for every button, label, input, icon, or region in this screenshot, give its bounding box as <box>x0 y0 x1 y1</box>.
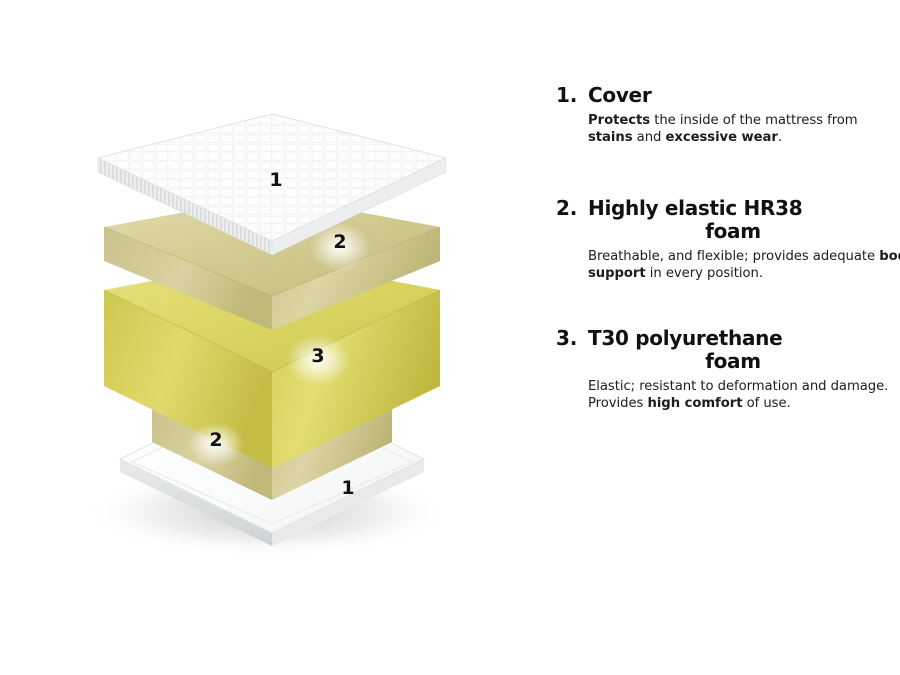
description-title: Cover <box>588 84 896 107</box>
description-title-line2: foam <box>588 220 896 243</box>
description-number: 2. <box>556 197 588 220</box>
layer-label-lower-hr38: 2 <box>209 429 222 451</box>
page-root: 1 2 3 2 1 1. Cover Protects the inside o… <box>0 0 900 675</box>
mattress-diagram-svg: 1 2 3 2 1 <box>0 0 520 675</box>
description-body: Protects the inside of the mattress from… <box>588 112 896 147</box>
description-block-cover: 1. Cover Protects the inside of the matt… <box>556 84 896 147</box>
layer-description-list: 1. Cover Protects the inside of the matt… <box>556 84 896 413</box>
description-title-line2: foam <box>588 350 896 373</box>
description-number: 1. <box>556 84 588 107</box>
layer-label-top-cover: 1 <box>269 169 282 191</box>
description-body: Breathable, and flexible; provides adequ… <box>588 248 900 283</box>
description-title: Highly elastic HR38 foam <box>588 197 896 243</box>
description-title-line1: Highly elastic HR38 <box>588 196 802 220</box>
layer-label-upper-hr38: 2 <box>333 231 346 253</box>
mattress-exploded-diagram: 1 2 3 2 1 <box>0 0 520 675</box>
description-block-hr38: 2. Highly elastic HR38 foam Breathable, … <box>556 197 896 283</box>
description-heading: 2. Highly elastic HR38 foam <box>556 197 896 243</box>
description-heading: 3. T30 polyurethane foam <box>556 327 896 373</box>
layer-label-core-t30: 3 <box>311 345 324 367</box>
description-heading: 1. Cover <box>556 84 896 107</box>
description-number: 3. <box>556 327 588 350</box>
description-title-line1: Cover <box>588 83 651 107</box>
description-block-t30: 3. T30 polyurethane foam Elastic; resist… <box>556 327 896 413</box>
layer-label-bottom-cover: 1 <box>341 477 354 499</box>
description-body: Elastic; resistant to deformation and da… <box>588 378 896 413</box>
description-title: T30 polyurethane foam <box>588 327 896 373</box>
description-title-line1: T30 polyurethane <box>588 326 782 350</box>
